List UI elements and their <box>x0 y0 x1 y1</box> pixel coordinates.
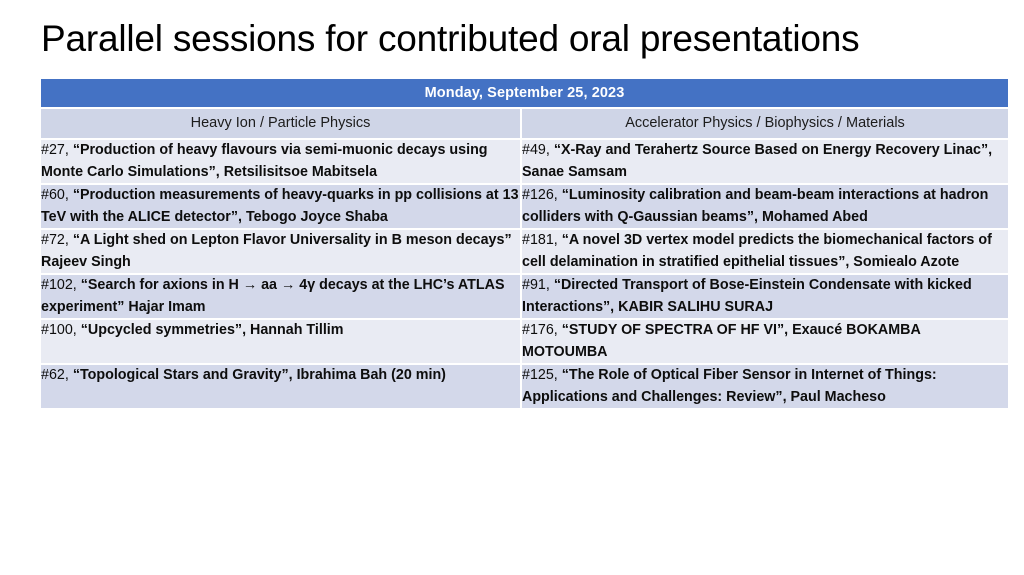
table-row: #102, “Search for axions in H → aa → 4γ … <box>41 275 1008 320</box>
talk-number: #181, <box>522 232 562 248</box>
talk-number: #27, <box>41 142 73 158</box>
table-row: #60, “Production measurements of heavy-q… <box>41 185 1008 230</box>
talk-number: #125, <box>522 367 562 383</box>
talk-number: #126, <box>522 187 562 203</box>
column-header-cell-left: Heavy Ion / Particle Physics <box>41 109 522 140</box>
talk-title: “Directed Transport of Bose-Einstein Con… <box>522 277 972 315</box>
talk-cell-left: #27, “Production of heavy flavours via s… <box>41 140 522 185</box>
talk-number: #60, <box>41 187 73 203</box>
talk-cell-right: #91, “Directed Transport of Bose-Einstei… <box>522 275 1008 320</box>
talk-title: “Search for axions in H → aa → 4γ decays… <box>41 277 504 315</box>
talk-title: “Production measurements of heavy-quarks… <box>41 187 519 225</box>
talk-title: “Luminosity calibration and beam-beam in… <box>522 187 988 225</box>
table-row: #27, “Production of heavy flavours via s… <box>41 140 1008 185</box>
column-header-label-right: Accelerator Physics / Biophysics / Mater… <box>522 110 1008 137</box>
talk-cell-right: #125, “The Role of Optical Fiber Sensor … <box>522 365 1008 410</box>
table-row: #72, “A Light shed on Lepton Flavor Univ… <box>41 230 1008 275</box>
table-row: #100, “Upcycled symmetries”, Hannah Till… <box>41 320 1008 365</box>
slide-canvas: Parallel sessions for contributed oral p… <box>0 0 1024 575</box>
column-header-cell-right: Accelerator Physics / Biophysics / Mater… <box>522 109 1008 140</box>
talk-cell-right: #49, “X-Ray and Terahertz Source Based o… <box>522 140 1008 185</box>
talk-number: #72, <box>41 232 73 248</box>
table-row: #62, “Topological Stars and Gravity”, Ib… <box>41 365 1008 410</box>
talk-title: “A novel 3D vertex model predicts the bi… <box>522 232 992 270</box>
talk-number: #102, <box>41 277 81 293</box>
talk-cell-left: #72, “A Light shed on Lepton Flavor Univ… <box>41 230 522 275</box>
page-title: Parallel sessions for contributed oral p… <box>41 14 1001 64</box>
date-banner-cell: Monday, September 25, 2023 <box>41 79 1008 109</box>
date-banner-row: Monday, September 25, 2023 <box>41 79 1008 109</box>
talk-title: “A Light shed on Lepton Flavor Universal… <box>41 232 512 270</box>
talk-title: “Upcycled symmetries”, Hannah Tillim <box>81 322 344 338</box>
talk-title: “Topological Stars and Gravity”, Ibrahim… <box>73 367 446 383</box>
talk-cell-left: #102, “Search for axions in H → aa → 4γ … <box>41 275 522 320</box>
date-banner-label: Monday, September 25, 2023 <box>41 80 1008 106</box>
talk-cell-left: #62, “Topological Stars and Gravity”, Ib… <box>41 365 522 410</box>
talk-title: “STUDY OF SPECTRA OF HF VI”, Exaucé BOKA… <box>522 322 920 360</box>
talk-number: #176, <box>522 322 562 338</box>
talk-number: #91, <box>522 277 554 293</box>
talk-number: #62, <box>41 367 73 383</box>
talk-title: “X-Ray and Terahertz Source Based on Ene… <box>522 142 992 180</box>
session-schedule-table: Monday, September 25, 2023 Heavy Ion / P… <box>41 79 1008 410</box>
talk-cell-left: #100, “Upcycled symmetries”, Hannah Till… <box>41 320 522 365</box>
talk-cell-right: #126, “Luminosity calibration and beam-b… <box>522 185 1008 230</box>
talk-number: #100, <box>41 322 81 338</box>
talk-cell-left: #60, “Production measurements of heavy-q… <box>41 185 522 230</box>
column-header-label-left: Heavy Ion / Particle Physics <box>41 110 520 137</box>
column-header-row: Heavy Ion / Particle Physics Accelerator… <box>41 109 1008 140</box>
talk-cell-right: #181, “A novel 3D vertex model predicts … <box>522 230 1008 275</box>
talk-number: #49, <box>522 142 554 158</box>
talk-title: “Production of heavy flavours via semi-m… <box>41 142 488 180</box>
talk-cell-right: #176, “STUDY OF SPECTRA OF HF VI”, Exauc… <box>522 320 1008 365</box>
talk-title: “The Role of Optical Fiber Sensor in Int… <box>522 367 937 405</box>
